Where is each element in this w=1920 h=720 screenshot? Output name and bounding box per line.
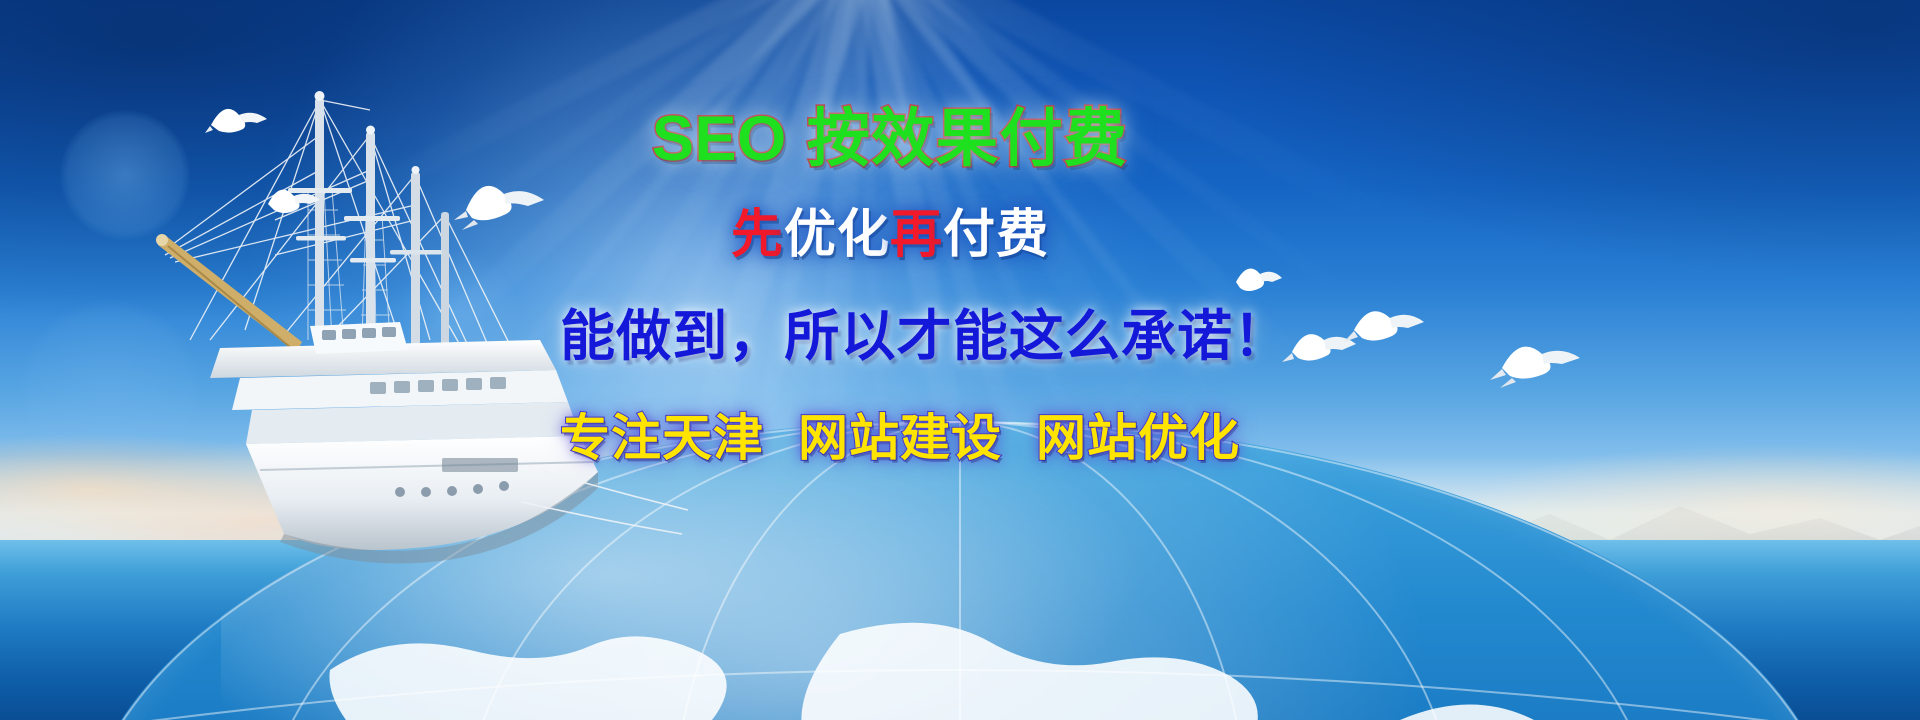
subline: 先优化再付费 [560, 207, 1220, 264]
subline-part3: 再 [890, 206, 943, 264]
subline-part2: 优化 [784, 206, 890, 264]
service-item-2: 网站建设 [798, 410, 1002, 466]
services-line: 专注天津网站建设网站优化 [560, 411, 1220, 466]
service-item-1: 专注天津 [560, 410, 764, 466]
seo-promo-banner: SEO按效果付费 先优化再付费 能做到，所以才能这么承诺！ 专注天津网站建设网站… [0, 0, 1920, 720]
headline-suffix: 按效果付费 [807, 104, 1128, 174]
service-item-3: 网站优化 [1036, 410, 1240, 466]
promise-line: 能做到，所以才能这么承诺！ [560, 306, 1220, 367]
subline-part1: 先 [731, 206, 784, 264]
headline: SEO按效果付费 [560, 105, 1220, 173]
banner-copy: SEO按效果付费 先优化再付费 能做到，所以才能这么承诺！ 专注天津网站建设网站… [560, 105, 1220, 466]
subline-part4: 付费 [943, 206, 1049, 264]
headline-seo: SEO [652, 104, 787, 174]
